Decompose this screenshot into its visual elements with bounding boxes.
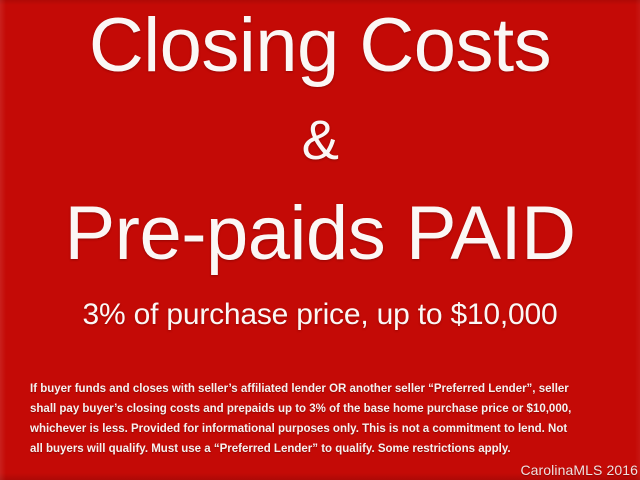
headline-ampersand: & [0,112,640,168]
disclaimer-line-4: all buyers will qualify. Must use a “Pre… [30,439,608,459]
disclaimer-text: If buyer funds and closes with seller’s … [30,379,608,459]
offer-subtitle: 3% of purchase price, up to $10,000 [0,298,640,331]
disclaimer-line-2: shall pay buyer’s closing costs and prep… [30,399,608,419]
headline-secondary: Pre-paids PAID [0,196,640,272]
mls-watermark: CarolinaMLS 2016 [520,463,638,477]
promotional-poster: Closing Costs & Pre-paids PAID 3% of pur… [0,0,640,480]
disclaimer-line-3: whichever is less. Provided for informat… [30,419,608,439]
disclaimer-line-1: If buyer funds and closes with seller’s … [30,379,608,399]
headline-primary: Closing Costs [0,8,640,84]
